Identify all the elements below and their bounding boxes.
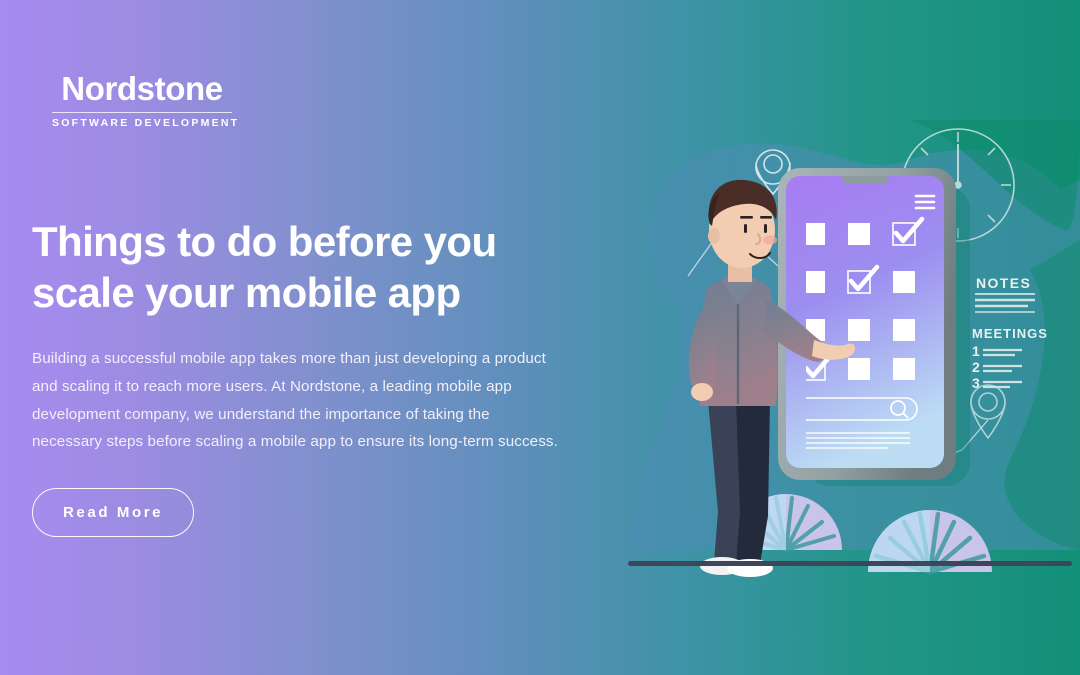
read-more-button[interactable]: Read More: [32, 488, 194, 537]
checkbox-empty: [803, 223, 825, 245]
checkbox-empty: [803, 271, 825, 293]
checkbox-empty: [848, 223, 870, 245]
hero-illustration: NOTES MEETINGS 1 2 3: [610, 120, 1080, 580]
brand-name: Nordstone: [52, 72, 232, 107]
hero-description: Building a successful mobile app takes m…: [32, 345, 562, 456]
hand: [691, 383, 713, 401]
notes-label: NOTES: [976, 275, 1031, 291]
checkbox-empty: [848, 319, 870, 341]
notes-block: NOTES: [975, 275, 1035, 312]
brand-tagline: SOFTWARE DEVELOPMENT: [52, 117, 232, 129]
meeting-number-2: 2: [972, 359, 980, 375]
hero-banner: Nordstone SOFTWARE DEVELOPMENT Things to…: [0, 0, 1080, 675]
meetings-label: MEETINGS: [972, 326, 1048, 341]
meeting-number-1: 1: [972, 343, 980, 359]
brand-logo[interactable]: Nordstone SOFTWARE DEVELOPMENT: [52, 72, 232, 129]
hero-copy: Things to do before you scale your mobil…: [32, 216, 562, 537]
checkbox-empty: [893, 271, 915, 293]
meeting-number-3: 3: [972, 375, 980, 391]
smartphone-mockup: [778, 168, 956, 480]
ground-line: [628, 561, 1072, 566]
checkbox-empty: [848, 358, 870, 380]
checkbox-empty: [893, 358, 915, 380]
checkbox-empty: [893, 319, 915, 341]
logo-divider: [52, 112, 232, 114]
page-title: Things to do before you scale your mobil…: [32, 216, 562, 318]
